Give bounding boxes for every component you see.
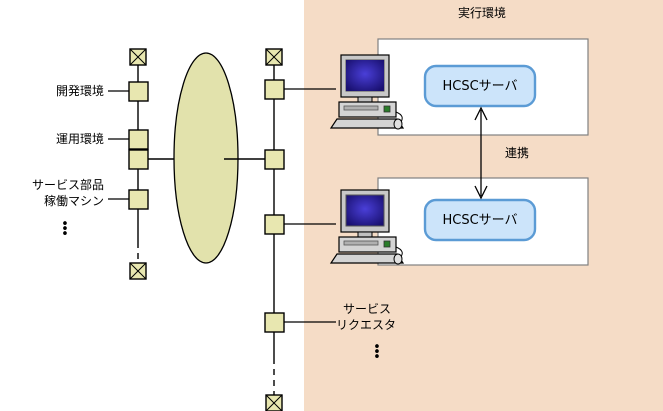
right-node-top[interactable] xyxy=(265,80,284,99)
right-node-hub[interactable] xyxy=(265,150,284,169)
network-cloud xyxy=(174,53,238,263)
right-terminator-top xyxy=(266,49,282,65)
left-terminator-top xyxy=(130,49,146,65)
hcsc-server-label-bottom: HCSCサーバ xyxy=(425,213,535,228)
left-terminator-bottom xyxy=(130,263,146,279)
left-node-hub[interactable] xyxy=(129,150,148,169)
label-service-requester-line2: リクエスタ xyxy=(336,318,396,333)
label-service-component-machine-line1: サービス部品 xyxy=(0,178,104,193)
label-development-environment: 開発環境 xyxy=(0,84,104,99)
right-ellipsis-marker: ••• xyxy=(367,345,387,360)
right-terminator-bottom xyxy=(266,395,282,411)
label-operation-environment: 運用環境 xyxy=(0,132,104,147)
right-node-requester[interactable] xyxy=(265,313,284,332)
left-ellipsis-marker: ••• xyxy=(55,222,75,237)
label-service-requester-line1: サービス xyxy=(343,302,391,317)
hcsc-server-label-top: HCSCサーバ xyxy=(425,79,535,94)
label-linkage: 連携 xyxy=(487,146,547,161)
left-node-ops[interactable] xyxy=(129,130,148,149)
label-service-component-machine-line2: 稼働マシン xyxy=(0,194,104,209)
execution-environment-title: 実行環境 xyxy=(422,6,542,21)
diagram-canvas: 実行環境 開発環境 運用環境 サービス部品 稼働マシン ••• サービス リクエ… xyxy=(0,0,663,411)
right-node-middle[interactable] xyxy=(265,215,284,234)
left-node-dev[interactable] xyxy=(129,82,148,101)
left-node-service-machine[interactable] xyxy=(129,190,148,209)
